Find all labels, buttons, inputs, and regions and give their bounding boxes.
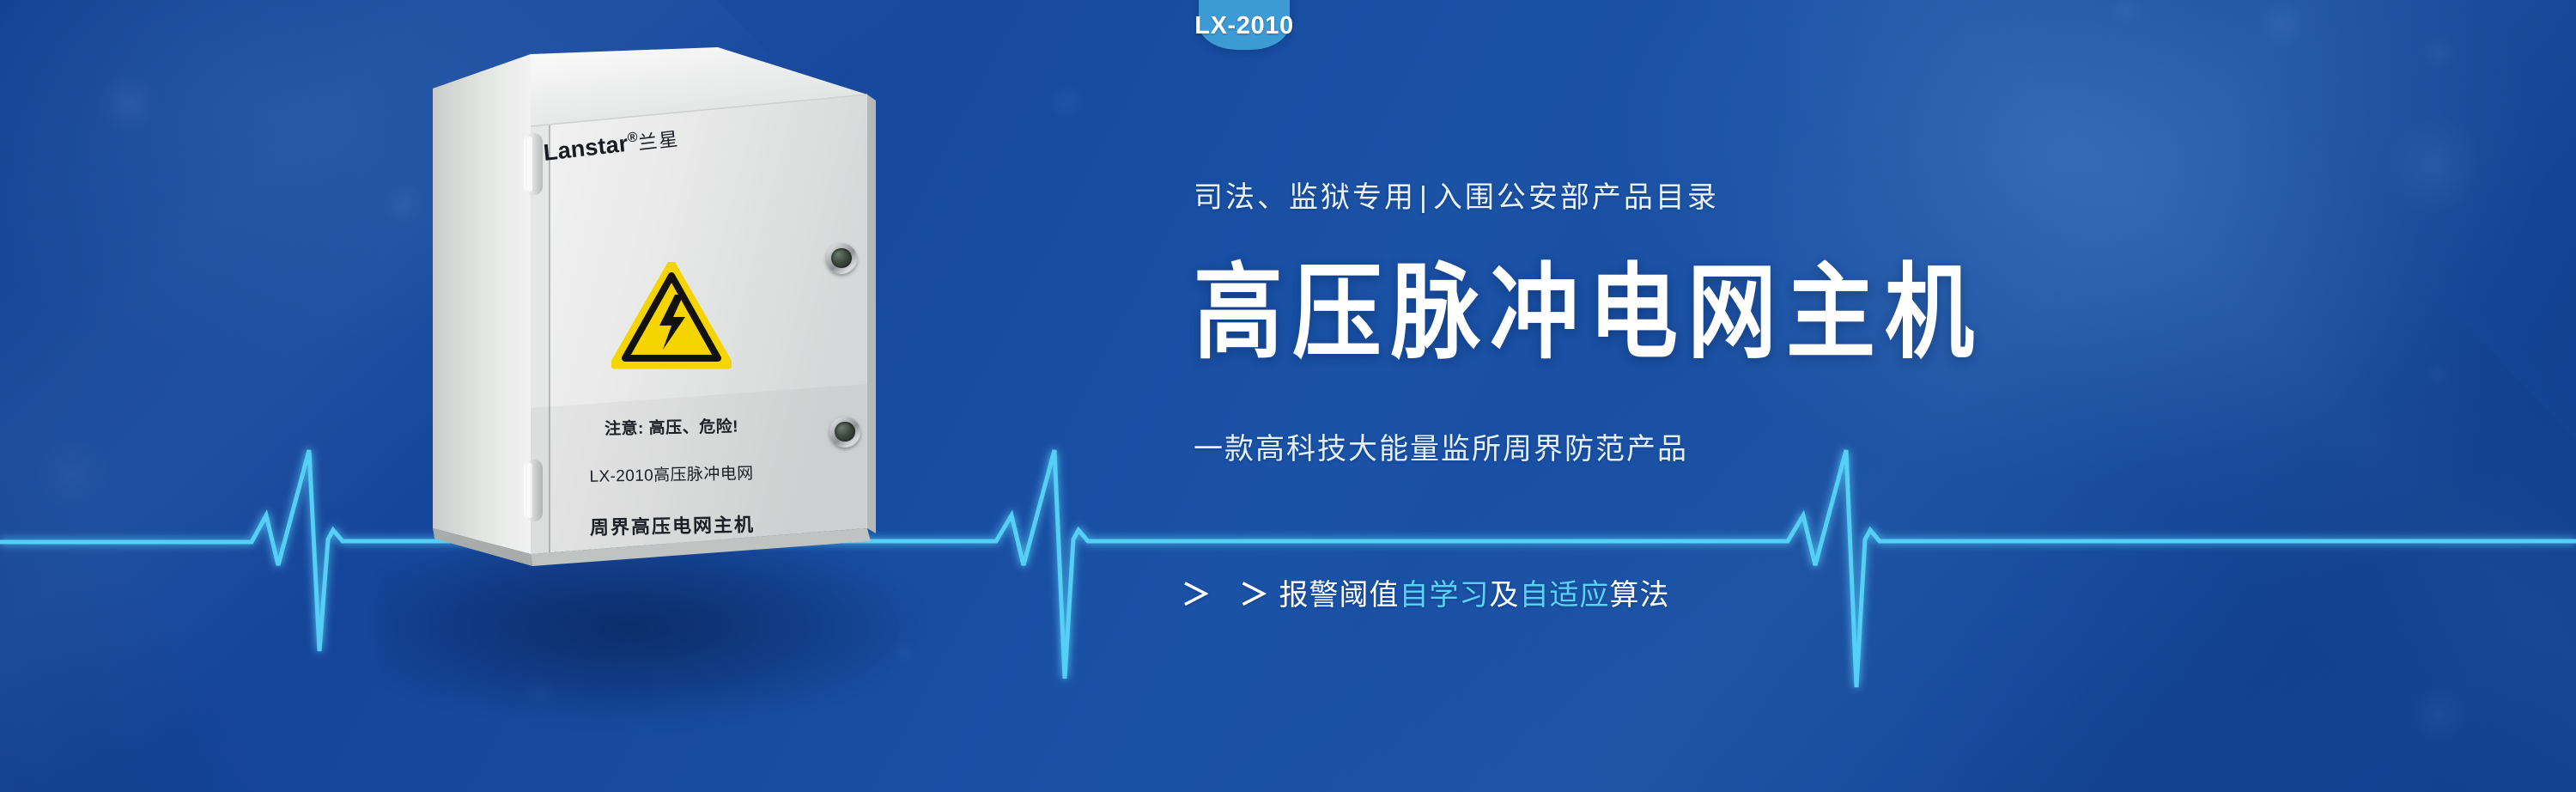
banner-copy: 司法、监狱专用|入围公安部产品目录 高压脉冲电网主机 一款高科技大能量监所周界防…: [1194, 0, 2533, 792]
eyebrow-divider: |: [1416, 181, 1433, 214]
warning-text-line: 注意: 高压、危险!: [594, 413, 749, 439]
eyebrow-left: 司法、监狱专用: [1194, 181, 1416, 214]
product-image: Lanstar®兰星 注意: 高压、危险! LX-2010高压脉冲电网 周界高压…: [421, 47, 970, 709]
product-name-line: 周界高压电网主机: [577, 509, 769, 540]
high-voltage-warning-triangle-icon: [611, 262, 732, 370]
eyebrow-right: 入围公安部产品目录: [1433, 181, 1719, 214]
status-indicator-bottom-icon: [829, 417, 860, 448]
indicator-cap: [831, 248, 851, 268]
cta-part-1: 报警阈值: [1279, 579, 1399, 612]
eyebrow-text: 司法、监狱专用|入围公安部产品目录: [1194, 174, 1719, 216]
status-indicator-top-icon: [826, 243, 857, 274]
tagline-text: 一款高科技大能量监所周界防范产品: [1194, 425, 1688, 467]
model-text-line: LX-2010高压脉冲电网: [574, 460, 769, 487]
brand-chinese: 兰星: [637, 128, 680, 154]
page-title: 高压脉冲电网主机: [1194, 258, 1984, 369]
cta-highlight-1: 自学习: [1399, 579, 1489, 612]
chevron-right-icon: ＞ ＞: [1182, 579, 1279, 612]
indicator-cap: [835, 422, 854, 442]
cta-part-2: 及: [1489, 579, 1519, 612]
cta-part-3: 算法: [1609, 579, 1669, 612]
feature-cta[interactable]: ＞ ＞报警阈值自学习及自适应算法: [1182, 571, 1669, 613]
cta-highlight-2: 自适应: [1519, 579, 1609, 612]
product-banner: Lanstar®兰星 注意: 高压、危险! LX-2010高压脉冲电网 周界高压…: [0, 0, 2576, 792]
